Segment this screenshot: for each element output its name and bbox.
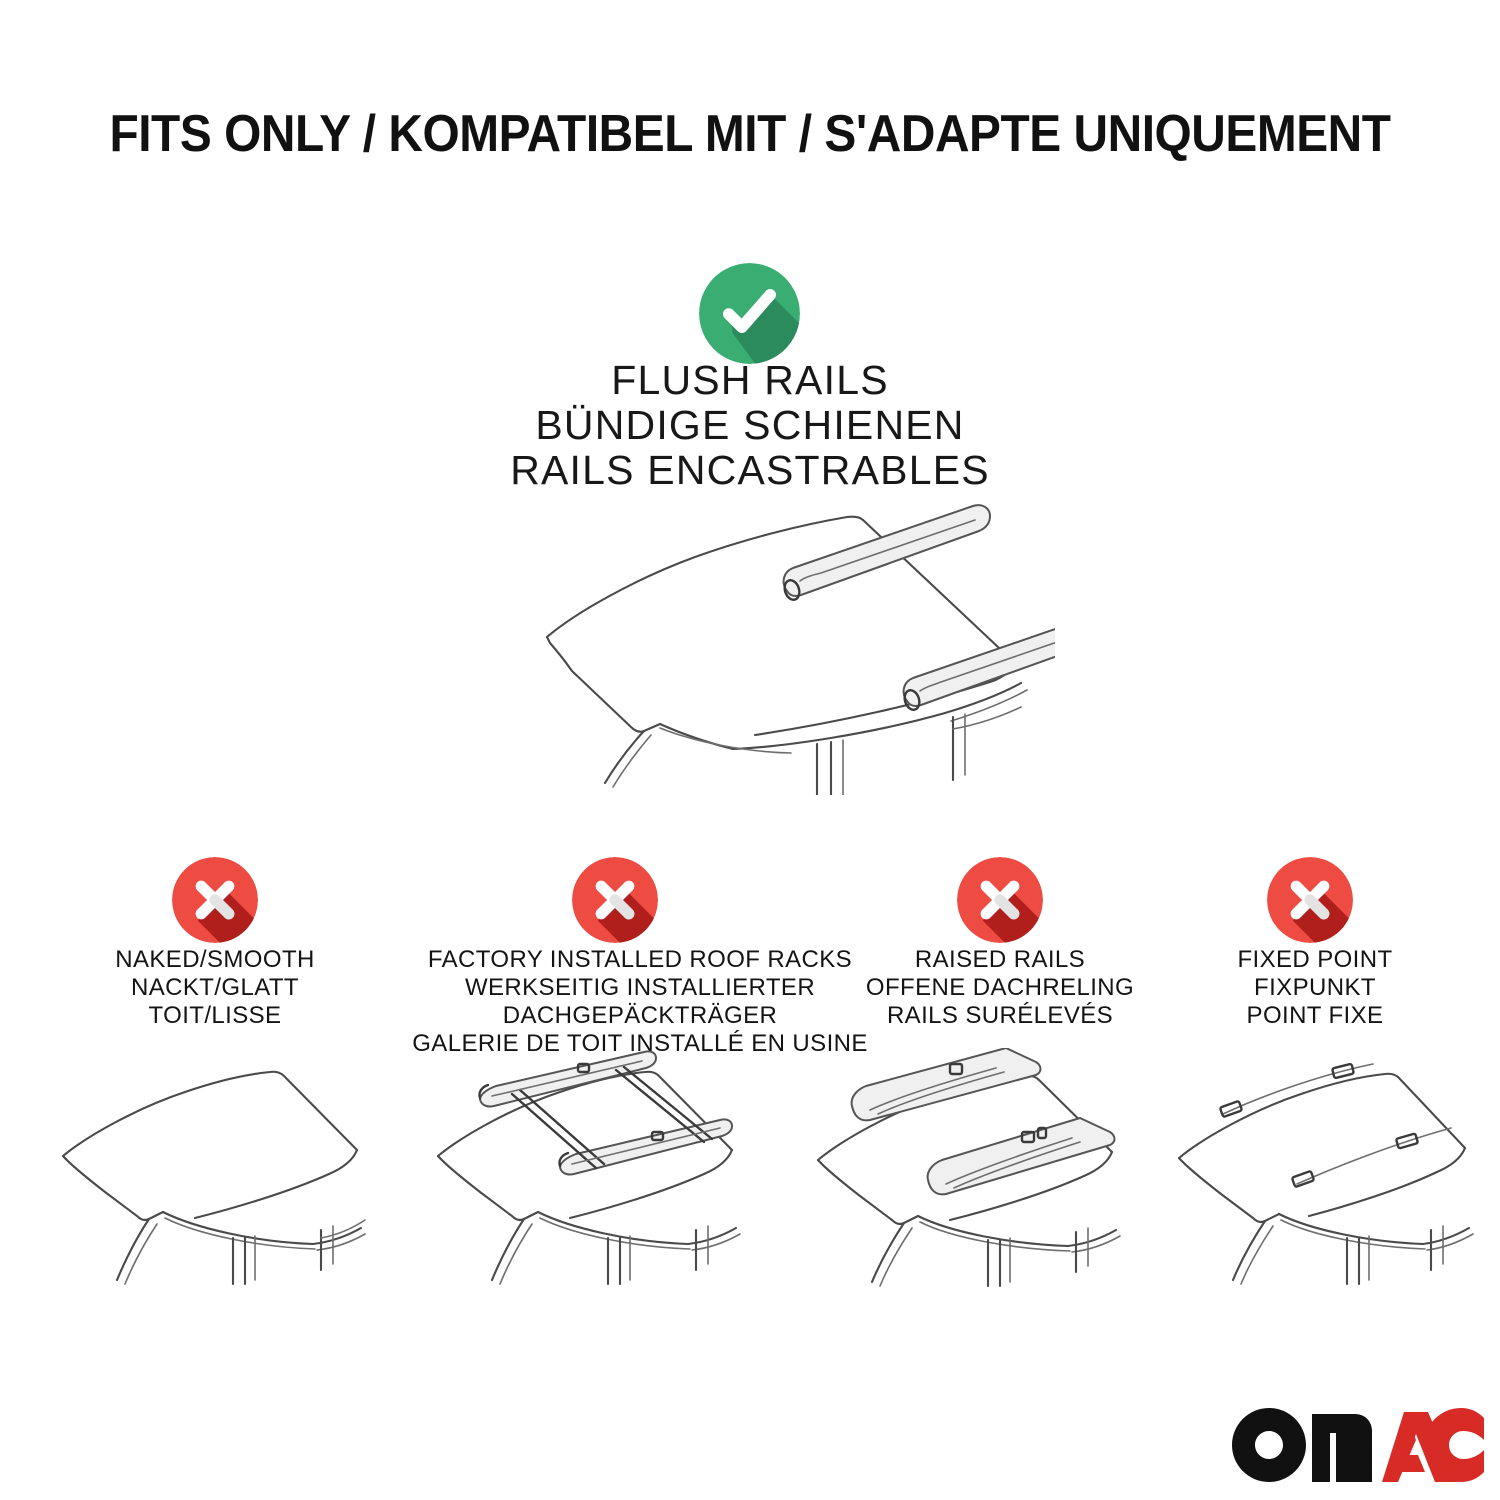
label-line: RAISED RAILS [830, 946, 1170, 974]
label-line: NAKED/SMOOTH [40, 946, 390, 974]
compatible-label-line-3: RAILS ENCASTRABLES [0, 448, 1500, 493]
label-line: WERKSEITIG INSTALLIERTER [385, 974, 895, 1002]
label-line: FIXPUNKT [1160, 974, 1470, 1002]
label-line: FIXED POINT [1160, 946, 1470, 974]
label-line: FACTORY INSTALLED ROOF RACKS [385, 946, 895, 974]
compatible-label-line-1: FLUSH RAILS [0, 358, 1500, 403]
check-circle-icon [699, 263, 800, 364]
omac-logo [1232, 1408, 1484, 1482]
compatible-label-group: FLUSH RAILS BÜNDIGE SCHIENEN RAILS ENCAS… [0, 358, 1500, 493]
label-line: RAILS SURÉLEVÉS [830, 1002, 1170, 1030]
cross-circle-icon [957, 857, 1043, 943]
compatible-label-line-2: BÜNDIGE SCHIENEN [0, 403, 1500, 448]
incompatible-label-group-naked-smooth: NAKED/SMOOTH NACKT/GLATT TOIT/LISSE [40, 946, 390, 1030]
incompatible-label-group-fixed-point: FIXED POINT FIXPUNKT POINT FIXE [1160, 946, 1470, 1030]
label-line: DACHGEPÄCKTRÄGER [385, 1002, 895, 1030]
cross-circle-icon [572, 857, 658, 943]
car-roof-flush-rails-illustration [455, 495, 1055, 795]
car-roof-fixed-point-illustration [1165, 1048, 1495, 1288]
label-line: NACKT/GLATT [40, 974, 390, 1002]
incompatible-label-group-raised-rails: RAISED RAILS OFFENE DACHRELING RAILS SUR… [830, 946, 1170, 1030]
page-title: FITS ONLY / KOMPATIBEL MIT / S'ADAPTE UN… [60, 104, 1440, 164]
incompatible-label-group-factory-roof-racks: FACTORY INSTALLED ROOF RACKS WERKSEITIG … [385, 946, 895, 1058]
car-roof-raised-rails-illustration [800, 1048, 1145, 1288]
label-line: OFFENE DACHRELING [830, 974, 1170, 1002]
label-line: TOIT/LISSE [40, 1002, 390, 1030]
car-roof-factory-roof-racks-illustration [420, 1048, 765, 1288]
cross-circle-icon [172, 857, 258, 943]
car-roof-naked-smooth-illustration [45, 1048, 390, 1288]
cross-circle-icon [1267, 857, 1353, 943]
label-line: POINT FIXE [1160, 1002, 1470, 1030]
